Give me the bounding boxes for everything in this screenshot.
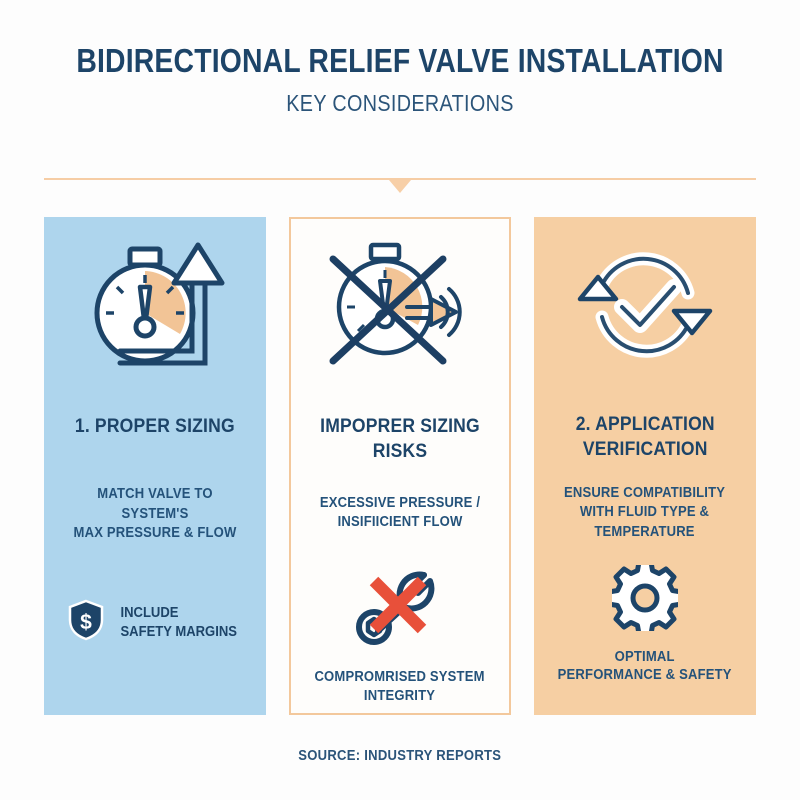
panel-heading-line: 2. APPLICATION <box>575 412 714 437</box>
columns-container: 1. PROPER SIZING MATCH VALVE TO SYSTEM'S… <box>44 217 756 715</box>
panel-footer-line: OPTIMAL <box>558 648 732 667</box>
panel-footer-line: PERFORMANCE & SAFETY <box>558 666 732 685</box>
panel-improper-sizing-risks[interactable]: IMPOPRER SIZING RISKS EXCESSIVE PRESSURE… <box>289 217 511 715</box>
divider <box>44 178 756 200</box>
panel-heading: 1. PROPER SIZING <box>70 414 241 439</box>
panel-footer-line: INTEGRITY <box>315 687 485 706</box>
page-subtitle: KEY CONSIDERATIONS <box>56 90 744 117</box>
panel-heading-line: VERIFICATION <box>575 437 714 462</box>
source-note: SOURCE: INDUSTRY REPORTS <box>0 748 800 764</box>
panel-application-verification[interactable]: 2. APPLICATION VERIFICATION ENSURE COMPA… <box>534 217 756 715</box>
chevron-down-triangle-icon <box>389 180 411 193</box>
panel-description: EXCESSIVE PRESSURE / INSIFIICIENT FLOW <box>311 494 489 533</box>
panel-footer-text: COMPROMRISED SYSTEM INTEGRITY <box>315 668 485 706</box>
gear-icon <box>612 565 678 636</box>
page-title: BIDIRECTIONAL RELIEF VALVE INSTALLATION <box>56 44 744 79</box>
panel-heading: IMPOPRER SIZING RISKS <box>302 414 498 464</box>
badge-line: INCLUDE <box>120 604 237 622</box>
panel-description-line: EXCESSIVE PRESSURE / <box>320 494 480 514</box>
badge-line: SAFETY MARGINS <box>120 623 237 641</box>
pressure-gauge-up-arrow-icon <box>44 217 266 392</box>
panel-description-line: WITH FLUID TYPE & <box>564 503 725 523</box>
panel-description-line: ENSURE COMPATIBILITY <box>564 484 725 504</box>
panel-description: MATCH VALVE TO SYSTEM'S MAX PRESSURE & F… <box>55 485 255 544</box>
panel-description-line: MAX PRESSURE & FLOW <box>64 524 246 544</box>
wrench-red-x-icon <box>352 567 448 652</box>
crossed-out-gauge-icon <box>291 219 509 394</box>
source-label: SOURCE: INDUSTRY REPORTS <box>299 748 502 764</box>
panel-proper-sizing[interactable]: 1. PROPER SIZING MATCH VALVE TO SYSTEM'S… <box>44 217 266 715</box>
safety-margin-label: INCLUDE SAFETY MARGINS <box>120 604 237 640</box>
panel-footer-line: COMPROMRISED SYSTEM <box>315 668 485 687</box>
panel-footer-text: OPTIMAL PERFORMANCE & SAFETY <box>558 648 732 686</box>
refresh-cycle-checkmark-icon <box>534 217 756 392</box>
panel-heading: 2. APPLICATION VERIFICATION <box>570 412 720 462</box>
safety-margin-badge: $ INCLUDE SAFETY MARGINS <box>44 598 266 647</box>
header: BIDIRECTIONAL RELIEF VALVE INSTALLATION … <box>0 0 800 117</box>
panel-description-line: INSIFIICIENT FLOW <box>320 513 480 533</box>
shield-dollar-icon: $ <box>67 598 105 647</box>
panel-description-line: TEMPERATURE <box>564 523 725 543</box>
panel-description: ENSURE COMPATIBILITY WITH FLUID TYPE & T… <box>555 484 734 543</box>
panel-description-line: MATCH VALVE TO SYSTEM'S <box>64 485 246 524</box>
svg-text:$: $ <box>80 611 92 634</box>
